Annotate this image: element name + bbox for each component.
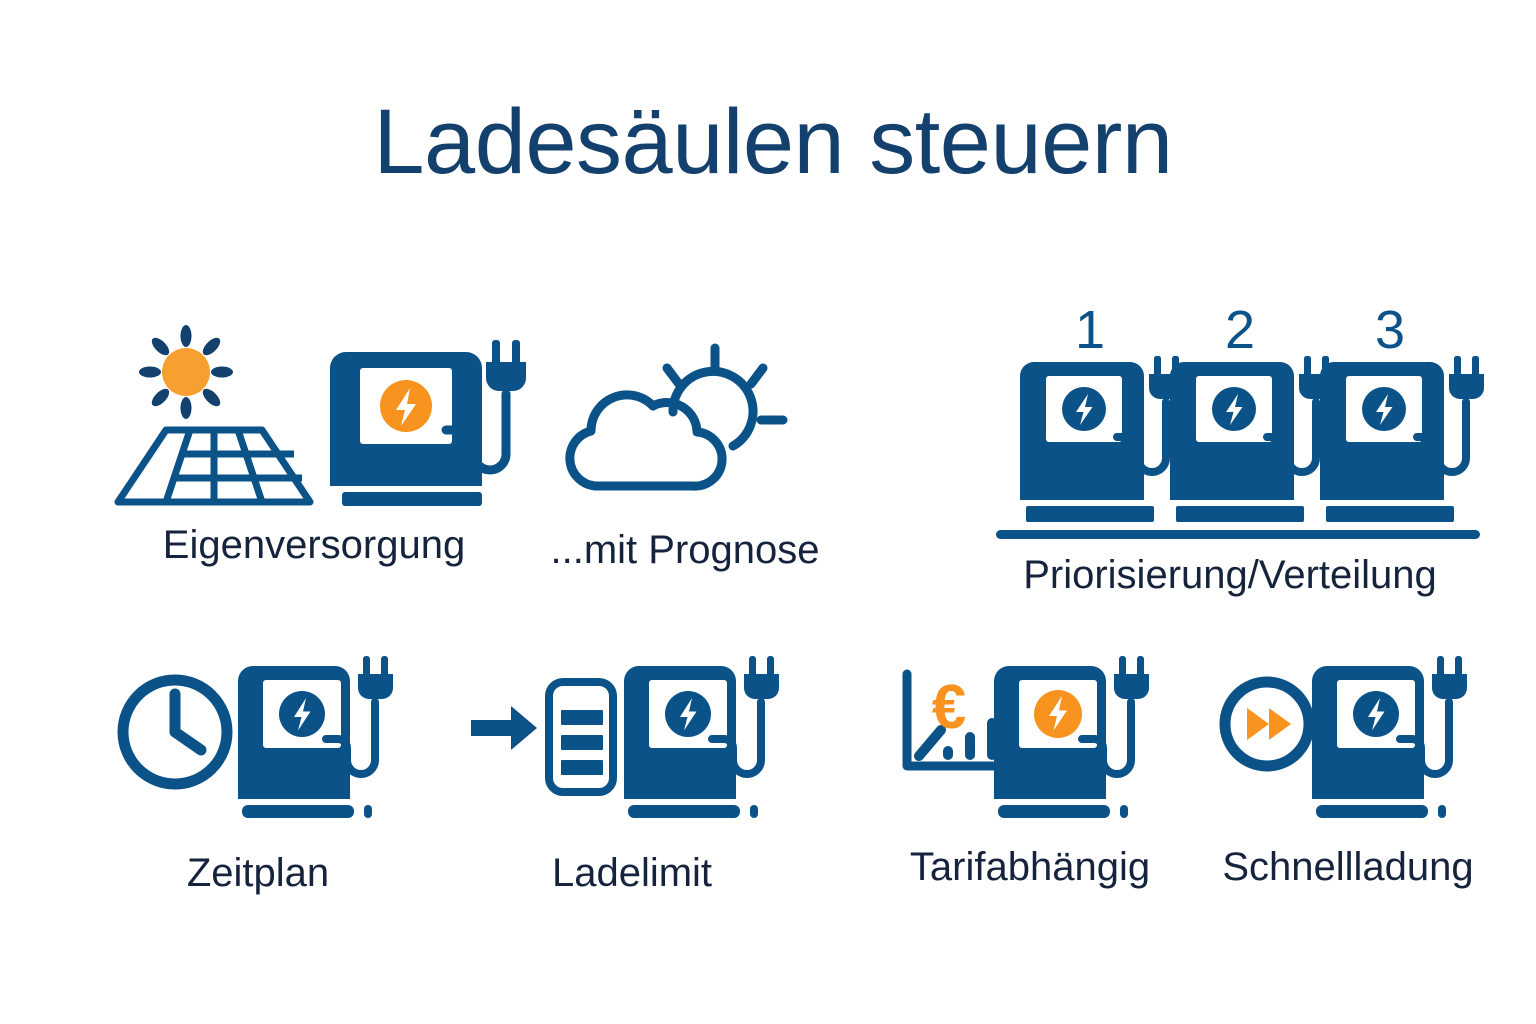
charging-station-icon <box>238 666 372 818</box>
item-zeitplan: Zeitplan <box>108 650 408 894</box>
schnell-artwork <box>1211 650 1486 830</box>
sun-icon <box>139 325 233 419</box>
item-label-ladelimit: Ladelimit <box>552 852 712 894</box>
arrow-right-icon <box>471 706 537 750</box>
item-schnell: Schnellladung <box>1208 650 1488 888</box>
sun-behind-cloud-icon <box>570 348 783 486</box>
ladelimit-artwork <box>467 650 797 830</box>
charging-station-icon <box>624 666 758 818</box>
euro-icon: € <box>931 673 965 742</box>
battery-icon <box>549 682 613 792</box>
item-label-schnell: Schnellladung <box>1222 846 1473 888</box>
zeitplan-artwork <box>113 650 403 830</box>
item-label-tarif: Tarifabhängig <box>910 846 1150 888</box>
item-tarif: € Tarifab <box>890 650 1170 888</box>
item-prognose: ...mit Prognose <box>520 342 850 571</box>
item-prio: 1 2 <box>980 300 1480 596</box>
prio-artwork: 1 2 <box>990 300 1470 550</box>
item-label-eigenversorgung: Eigenversorgung <box>163 524 465 566</box>
svg-text:€: € <box>931 673 965 742</box>
item-eigenversorgung: Eigenversorgung <box>104 330 524 566</box>
fast-forward-icon <box>1225 682 1309 766</box>
solar-panel-icon <box>118 430 310 502</box>
item-label-zeitplan: Zeitplan <box>187 852 329 894</box>
station-number-1: 1 <box>1075 300 1105 360</box>
charging-station-2: 2 <box>1170 300 1334 522</box>
charging-station-icon <box>1312 666 1446 818</box>
clock-icon <box>123 680 227 784</box>
charging-station-icon <box>994 666 1128 818</box>
prognose-artwork <box>545 342 825 507</box>
charging-station-1: 1 <box>1020 300 1184 522</box>
infographic-canvas: Ladesäulen steuern <box>0 0 1536 1024</box>
page-title: Ladesäulen steuern <box>0 96 1536 188</box>
item-ladelimit: Ladelimit <box>462 650 802 894</box>
station-number-3: 3 <box>1375 300 1405 360</box>
charging-station-3: 3 <box>1320 300 1484 522</box>
eigenversorgung-artwork <box>114 330 514 510</box>
tarif-artwork: € <box>893 650 1168 830</box>
ground-line-icon <box>996 530 1480 539</box>
item-label-prio: Priorisierung/Verteilung <box>1023 554 1437 596</box>
station-number-2: 2 <box>1225 300 1255 360</box>
item-label-prognose: ...mit Prognose <box>550 529 819 571</box>
